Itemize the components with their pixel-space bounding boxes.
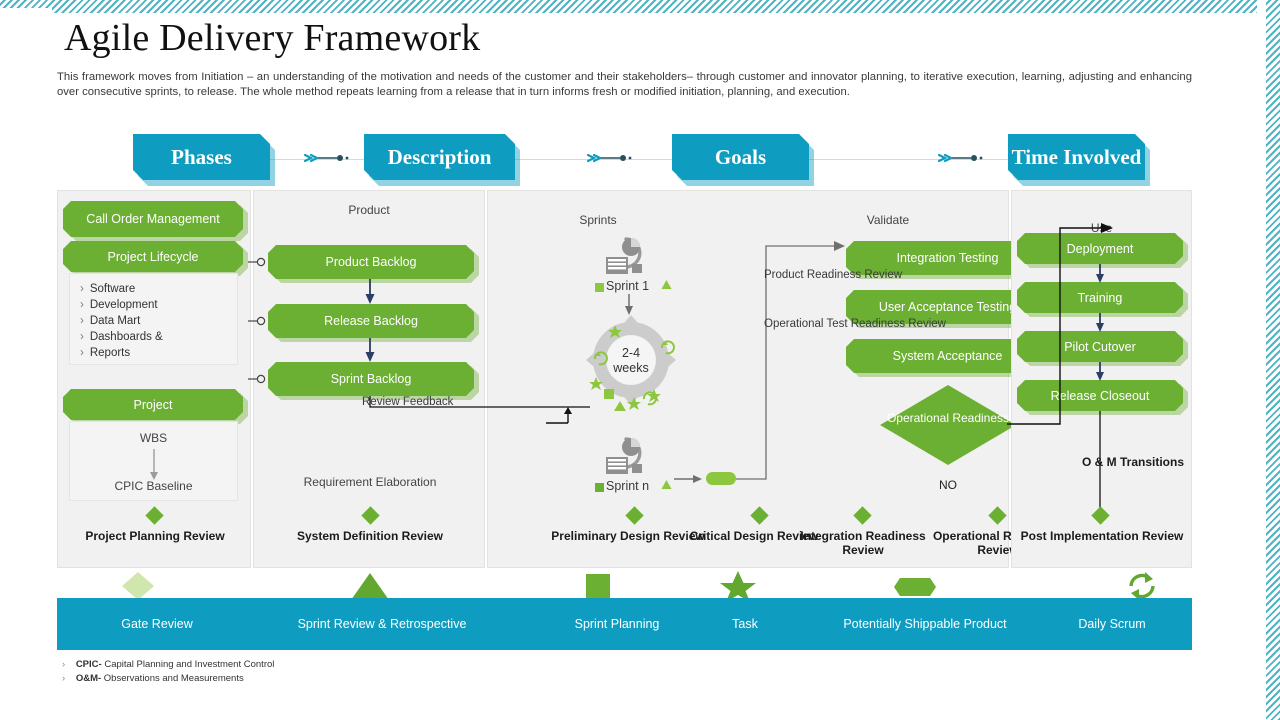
footnote-om-abbr: O&M- bbox=[76, 673, 101, 684]
legend-item-sprint-planning[interactable]: Sprint Planning bbox=[527, 598, 707, 650]
tab-phases[interactable]: Phases bbox=[133, 134, 270, 180]
tab-time-involved[interactable]: Time Involved bbox=[1008, 134, 1145, 180]
decorative-stripe-top bbox=[0, 0, 1280, 14]
cross-column-connectors bbox=[57, 190, 1192, 568]
tab-description[interactable]: Description bbox=[364, 134, 515, 180]
page-title: Agile Delivery Framework bbox=[64, 16, 480, 60]
legend-item-task[interactable]: Task bbox=[685, 598, 805, 650]
decorative-stripe-top-mask bbox=[0, 8, 52, 20]
decorative-stripe-right bbox=[1266, 0, 1280, 720]
connector-description-goals bbox=[586, 147, 644, 169]
square-icon-legend bbox=[584, 570, 612, 600]
legend-item-potentially-shippable-product[interactable]: Potentially Shippable Product bbox=[805, 598, 1045, 650]
footnote-cpic: CPIC- Capital Planning and Investment Co… bbox=[62, 658, 274, 672]
footnote-om-text: Observations and Measurements bbox=[101, 673, 244, 684]
footnote-cpic-text: Capital Planning and Investment Control bbox=[102, 659, 275, 670]
footnote-om: O&M- Observations and Measurements bbox=[62, 672, 274, 686]
slide-canvas: Agile Delivery Framework This framework … bbox=[0, 0, 1257, 720]
legend-bar: Gate Review Sprint Review & Retrospectiv… bbox=[57, 598, 1192, 650]
legend-item-gate-review[interactable]: Gate Review bbox=[77, 598, 237, 650]
framework-columns: Call Order Management Project Lifecycle … bbox=[57, 190, 1192, 568]
phase-header-bar: Phases Description Goals bbox=[57, 134, 1192, 186]
legend-item-sprint-review[interactable]: Sprint Review & Retrospective bbox=[247, 598, 517, 650]
page-subtitle: This framework moves from Initiation – a… bbox=[57, 70, 1192, 100]
footnotes: CPIC- Capital Planning and Investment Co… bbox=[62, 658, 274, 686]
tab-goals[interactable]: Goals bbox=[672, 134, 809, 180]
footnote-cpic-abbr: CPIC- bbox=[76, 659, 102, 670]
pill-icon-legend bbox=[892, 576, 938, 598]
label-review-feedback: Review Feedback bbox=[362, 396, 453, 408]
connector-phases-description bbox=[303, 147, 361, 169]
decorative-stripe-right-gap bbox=[1257, 0, 1266, 720]
connector-goals-time bbox=[937, 147, 995, 169]
legend-item-daily-scrum[interactable]: Daily Scrum bbox=[1042, 598, 1182, 650]
